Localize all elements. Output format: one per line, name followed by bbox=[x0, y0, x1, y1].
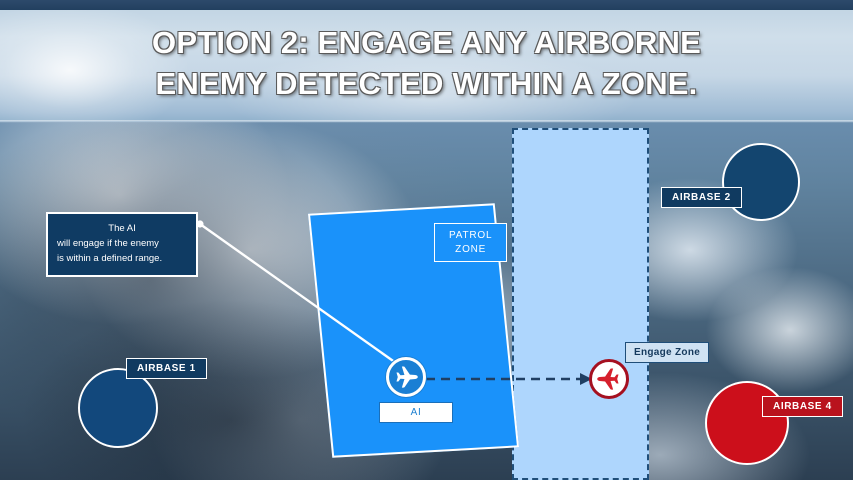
callout-line-1: The AI bbox=[57, 221, 187, 236]
airbase-4-marker[interactable] bbox=[705, 381, 789, 465]
airbase-4-label[interactable]: AIRBASE 4 bbox=[762, 396, 843, 417]
airbase-2-marker[interactable] bbox=[722, 143, 800, 221]
title-band-divider bbox=[0, 120, 853, 123]
ai-behaviour-callout: The AI will engage if the enemy is withi… bbox=[46, 212, 198, 277]
ai-aircraft-marker[interactable] bbox=[386, 357, 426, 397]
airbase-2-label[interactable]: AIRBASE 2 bbox=[661, 187, 742, 208]
airbase-1-marker[interactable] bbox=[78, 368, 158, 448]
airbase-1-label[interactable]: AIRBASE 1 bbox=[126, 358, 207, 379]
patrol-zone-label[interactable]: PATROL ZONE bbox=[434, 223, 507, 262]
patrol-zone-label-line-1: PATROL bbox=[449, 229, 492, 243]
ai-marker-label[interactable]: AI bbox=[379, 402, 453, 423]
top-accent-bar bbox=[0, 0, 853, 10]
patrol-zone-label-line-2: ZONE bbox=[449, 243, 492, 257]
fighter-jet-icon bbox=[596, 366, 622, 392]
engage-zone-area[interactable] bbox=[512, 128, 649, 480]
fighter-jet-icon bbox=[393, 364, 419, 390]
callout-line-2: will engage if the enemy bbox=[57, 236, 187, 251]
callout-line-3: is within a defined range. bbox=[57, 251, 187, 266]
page-title: OPTION 2: ENGAGE ANY AIRBORNE ENEMY DETE… bbox=[0, 22, 853, 104]
title-line-1: OPTION 2: ENGAGE ANY AIRBORNE bbox=[0, 22, 853, 63]
title-line-2: ENEMY DETECTED WITHIN A ZONE. bbox=[0, 63, 853, 104]
enemy-aircraft-marker[interactable] bbox=[589, 359, 629, 399]
slide-canvas: OPTION 2: ENGAGE ANY AIRBORNE ENEMY DETE… bbox=[0, 0, 853, 480]
engage-zone-label[interactable]: Engage Zone bbox=[625, 342, 709, 363]
